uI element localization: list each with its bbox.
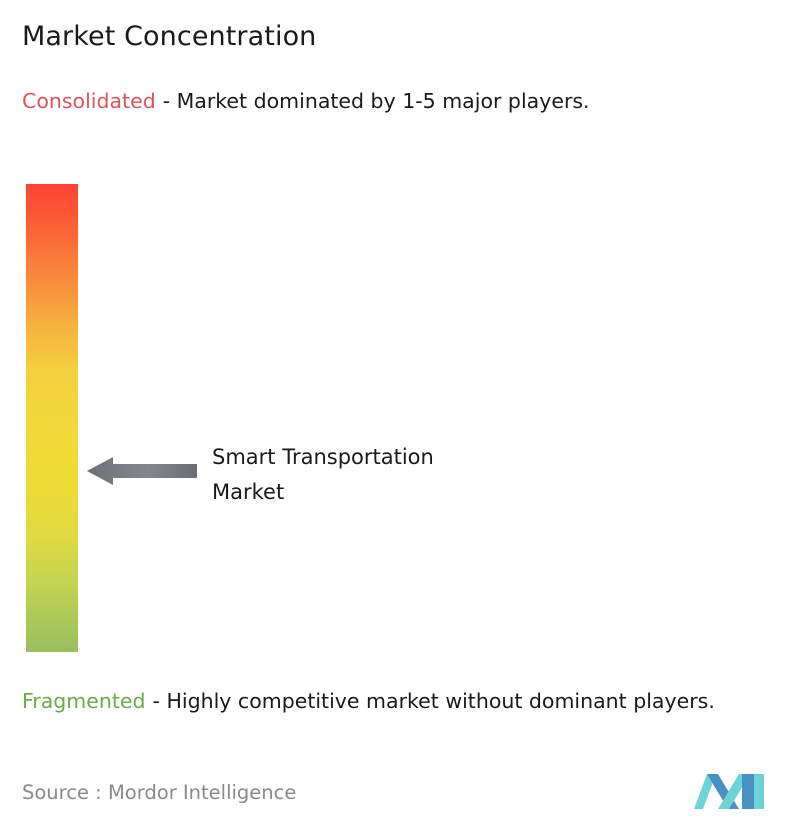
series-annotation-label-line1: Smart Transportation	[212, 440, 552, 475]
legend-fragmented-description: - Highly competitive market without domi…	[153, 689, 715, 713]
page-title: Market Concentration	[22, 20, 316, 54]
source-attribution: Source : Mordor Intelligence	[22, 780, 296, 806]
mordor-intelligence-logo	[694, 767, 768, 815]
market-concentration-chart: Market Concentration Consolidated- Marke…	[0, 0, 796, 834]
legend-fragmented: Fragmented- Highly competitive market wi…	[22, 686, 790, 717]
series-annotation-label-line2: Market	[212, 475, 552, 510]
source-label: Source :	[22, 781, 102, 804]
legend-consolidated: Consolidated- Market dominated by 1-5 ma…	[22, 86, 782, 117]
legend-fragmented-keyword: Fragmented	[22, 689, 146, 713]
left-arrow-icon	[87, 456, 197, 486]
legend-consolidated-keyword: Consolidated	[22, 89, 156, 113]
source-value: Mordor Intelligence	[108, 781, 296, 804]
series-annotation-label: Smart Transportation Market	[212, 440, 552, 510]
legend-consolidated-description: - Market dominated by 1-5 major players.	[163, 89, 590, 113]
concentration-gradient-bar	[26, 184, 78, 652]
